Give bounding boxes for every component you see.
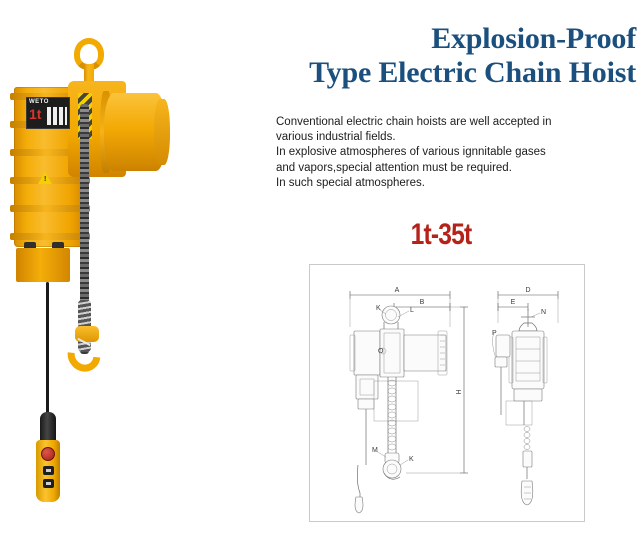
dimension-label-b: B: [420, 299, 425, 306]
pendant-cable: [46, 282, 49, 418]
product-photo: WETO 1t !: [0, 0, 262, 535]
product-description: Conventional electric chain hoists are w…: [276, 115, 628, 191]
dimension-h: H: [406, 307, 468, 473]
technical-drawing-svg: .ln { stroke:#6f6f6f; stroke-width:.7; f…: [310, 265, 584, 521]
technical-drawing-panel: .ln { stroke:#6f6f6f; stroke-width:.7; f…: [309, 264, 585, 522]
page-title-line2: Type Electric Chain Hoist: [262, 56, 636, 90]
dimension-label-d: D: [525, 287, 530, 294]
pendant-control: [36, 440, 60, 502]
hoist-up-button[interactable]: [43, 466, 54, 475]
lower-housing: [16, 248, 70, 282]
dimension-label-a: A: [395, 287, 400, 294]
nameplate-grid: [47, 107, 67, 125]
warning-triangle-icon: !: [38, 172, 52, 185]
nameplate-brand: WETO: [29, 99, 49, 105]
dimension-e: E: [498, 299, 528, 311]
detail-label-k-bottom: K: [409, 456, 414, 463]
hook-curve: [61, 332, 107, 378]
motor-end-cap: [154, 99, 170, 165]
front-view-chain: [374, 377, 418, 455]
description-line-3: In explosive atmospheres of various ignn…: [276, 145, 628, 160]
right-column: Explosion-Proof Type Electric Chain Hois…: [262, 0, 644, 535]
side-view-body: P: [492, 323, 547, 425]
emergency-stop-button[interactable]: [41, 447, 55, 461]
nameplate-capacity: 1t: [29, 107, 41, 121]
page-title-line1: Explosion-Proof: [262, 22, 636, 56]
warning-mark: !: [44, 176, 46, 183]
description-line-2: various industrial fields.: [276, 130, 628, 145]
front-view-bottom-hook: M K: [372, 447, 414, 479]
dimension-label-h: H: [456, 389, 463, 394]
dimension-b: B: [394, 299, 450, 311]
nameplate: WETO 1t: [26, 97, 70, 129]
capacity-heading: 1t-35t: [306, 219, 577, 251]
detail-label-n: N: [541, 309, 546, 316]
bottom-load-hook-icon: [66, 326, 106, 378]
front-view-body: O: [350, 329, 447, 465]
description-line-1: Conventional electric chain hoists are w…: [276, 115, 628, 130]
detail-label-p: P: [492, 330, 497, 337]
detail-label-k-top: K: [376, 305, 381, 312]
detail-label-l-top: L: [410, 307, 414, 314]
page-title: Explosion-Proof Type Electric Chain Hois…: [262, 22, 640, 90]
dimension-label-e: E: [511, 299, 516, 306]
side-view-chain: [521, 401, 533, 505]
description-line-5: In such special atmospheres.: [276, 176, 628, 191]
hoist-down-button[interactable]: [43, 479, 54, 488]
description-line-4: and vapors,special attention must be req…: [276, 161, 628, 176]
detail-label-m: M: [372, 447, 378, 454]
